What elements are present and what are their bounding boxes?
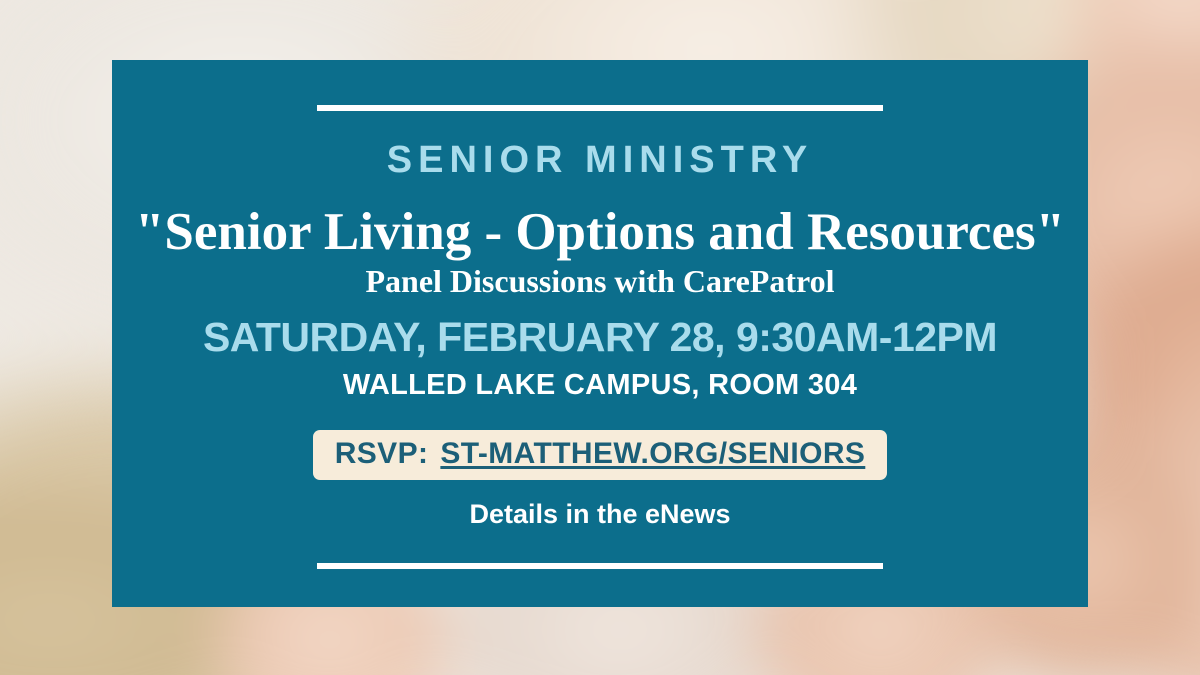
rsvp-label: RSVP: [335,439,429,469]
announcement-card: SENIOR MINISTRY "Senior Living - Options… [112,60,1088,607]
divider-top [317,105,883,111]
event-title: "Senior Living - Options and Resources" [135,205,1065,260]
rsvp-button[interactable]: RSVP: ST-MATTHEW.ORG/SENIORS [313,430,888,480]
rsvp-link[interactable]: ST-MATTHEW.ORG/SENIORS [440,439,865,469]
divider-bottom [317,563,883,569]
ministry-eyebrow: SENIOR MINISTRY [387,141,813,179]
event-venue: WALLED LAKE CAMPUS, ROOM 304 [343,370,857,402]
event-poster: SENIOR MINISTRY "Senior Living - Options… [0,0,1200,675]
details-note: Details in the eNews [469,500,730,530]
event-datetime: SATURDAY, FEBRUARY 28, 9:30AM-12PM [203,315,997,360]
event-subtitle: Panel Discussions with CarePatrol [365,264,834,299]
